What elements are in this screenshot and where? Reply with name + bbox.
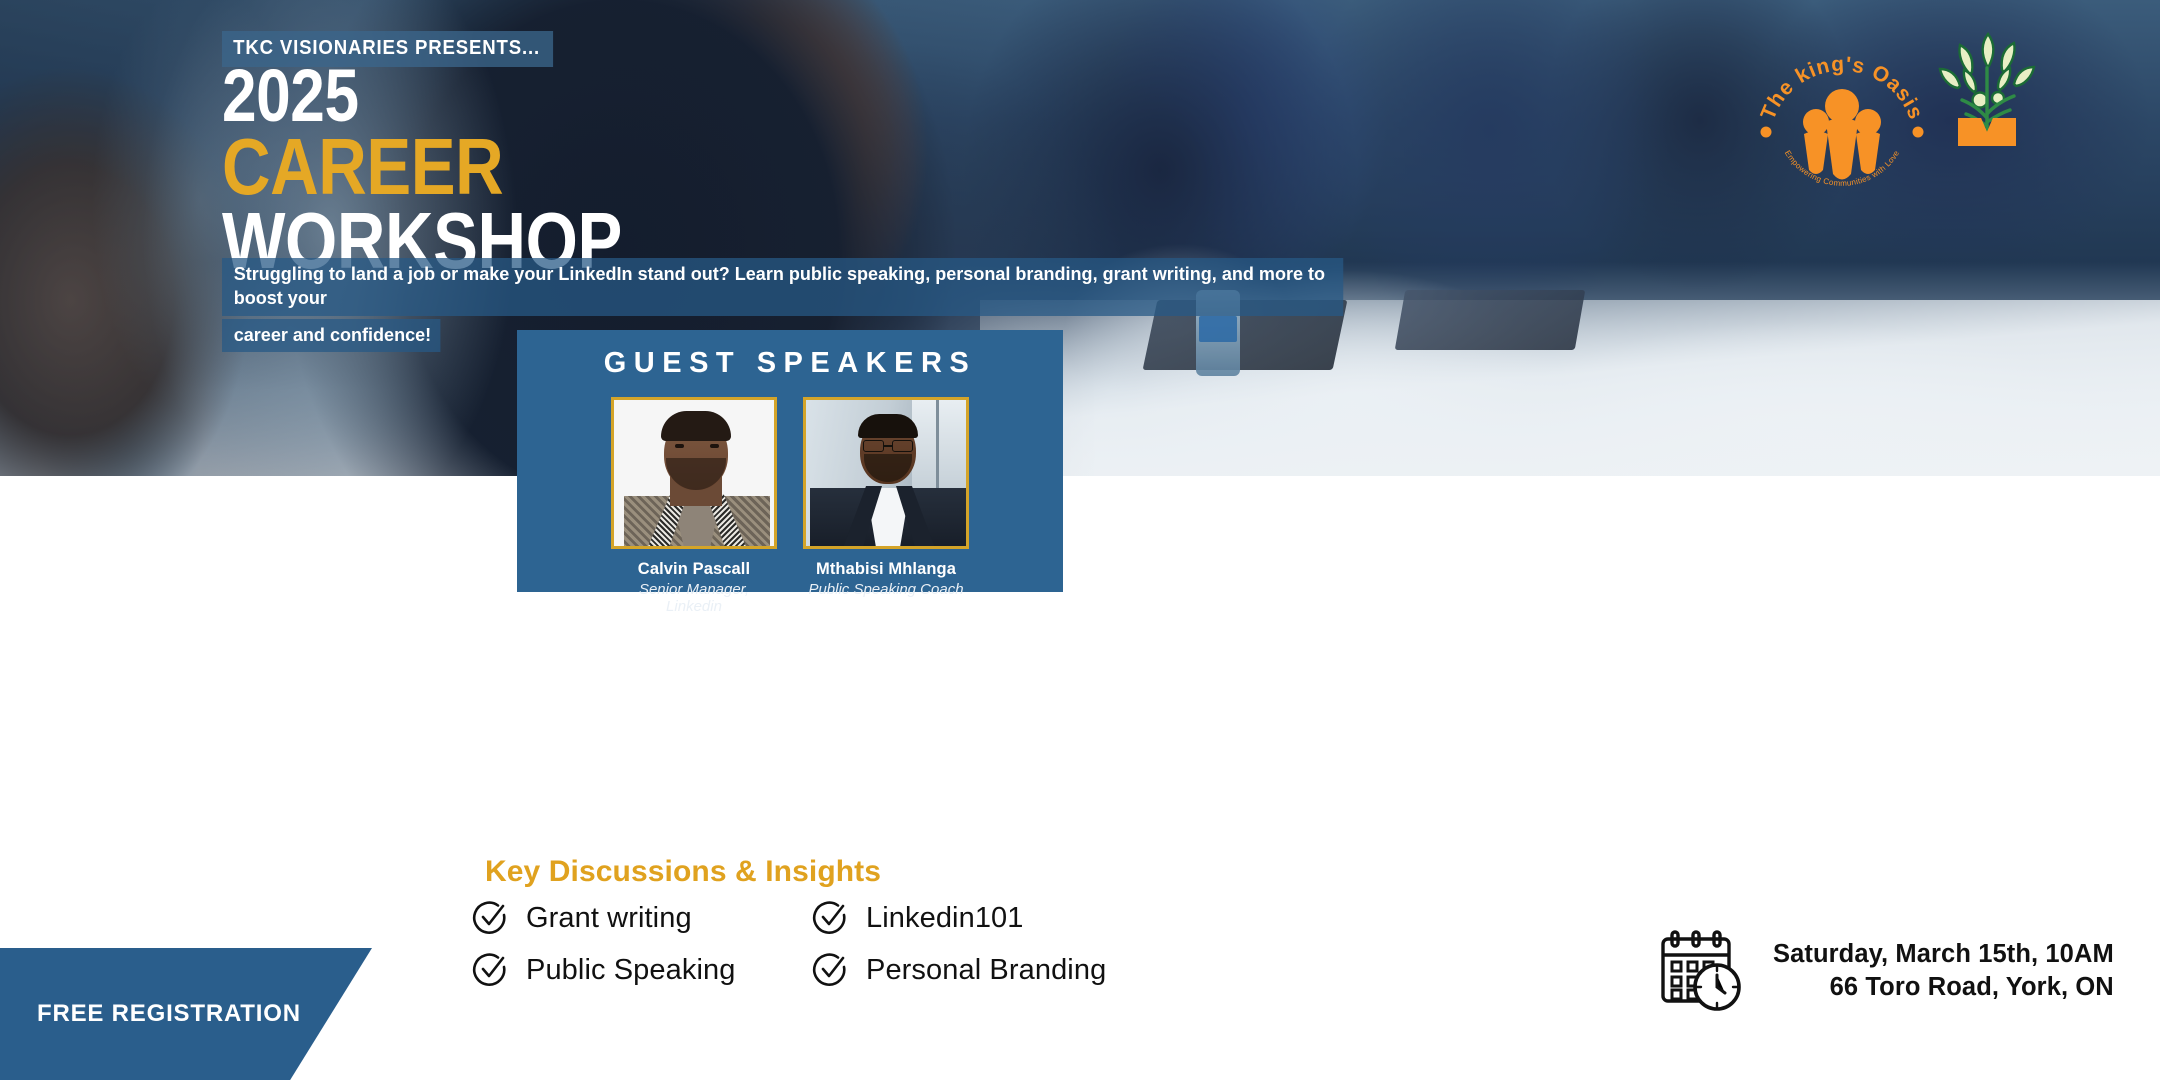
speaker-card: Calvin Pascall Senior Manager, Linkedin bbox=[611, 397, 777, 615]
check-circle-icon bbox=[472, 900, 508, 936]
title-career: CAREER bbox=[222, 130, 622, 204]
event-flyer: TKC VISIONARIES PRESENTS... 2025 CAREER … bbox=[0, 0, 2160, 1080]
speaker-card: Mthabisi Mhlanga Public Speaking Coach bbox=[803, 397, 969, 615]
guest-speakers-heading: GUEST SPEAKERS bbox=[517, 330, 1063, 380]
page-title: 2025 CAREER WORKSHOP bbox=[222, 62, 698, 277]
list-item-label: Grant writing bbox=[526, 902, 692, 935]
subtitle-line-1: Struggling to land a job or make your Li… bbox=[222, 258, 1343, 316]
guest-speakers-panel: GUEST SPEAKERS Calvin Pascall Senior Man… bbox=[517, 330, 1063, 592]
event-date: Saturday, March 15th, 10AM bbox=[1773, 938, 2114, 971]
list-item: Linkedin101 bbox=[812, 900, 1152, 936]
list-item-label: Personal Branding bbox=[866, 954, 1106, 987]
speaker-name: Mthabisi Mhlanga bbox=[803, 560, 969, 579]
speaker-role: Public Speaking Coach bbox=[803, 581, 969, 598]
tree-logo-icon bbox=[1928, 22, 2046, 146]
speaker-name: Calvin Pascall bbox=[611, 560, 777, 579]
kings-oasis-logo: The king's Oasis Empowering Communities … bbox=[1754, 18, 1930, 194]
list-item-label: Linkedin101 bbox=[866, 902, 1024, 935]
check-circle-icon bbox=[812, 952, 848, 988]
list-item: Public Speaking bbox=[472, 952, 812, 988]
list-item: Grant writing bbox=[472, 900, 812, 936]
speaker-role: Senior Manager, Linkedin bbox=[611, 581, 777, 615]
check-circle-icon bbox=[472, 952, 508, 988]
laptop-icon bbox=[1395, 290, 1586, 350]
title-year: 2025 bbox=[222, 62, 622, 130]
key-discussions-heading: Key Discussions & Insights bbox=[485, 855, 881, 889]
speaker-photo-calvin bbox=[611, 397, 777, 549]
check-circle-icon bbox=[812, 900, 848, 936]
list-item-label: Public Speaking bbox=[526, 954, 735, 987]
free-registration-banner[interactable]: FREE REGISTRATION bbox=[0, 948, 372, 1080]
calendar-clock-icon bbox=[1655, 925, 1747, 1017]
event-datetime-block: Saturday, March 15th, 10AM 66 Toro Road,… bbox=[1655, 925, 2114, 1017]
speaker-photo-mthabisi bbox=[803, 397, 969, 549]
speakers-row: Calvin Pascall Senior Manager, Linkedin … bbox=[517, 397, 1063, 615]
three-people-glyph bbox=[1803, 89, 1881, 180]
key-discussions-list: Grant writing Linkedin101 Public Speakin… bbox=[472, 900, 1372, 988]
subtitle-line-2: career and confidence! bbox=[222, 319, 440, 352]
event-address: 66 Toro Road, York, ON bbox=[1773, 971, 2114, 1004]
list-item: Personal Branding bbox=[812, 952, 1152, 988]
free-registration-label: FREE REGISTRATION bbox=[37, 1000, 301, 1028]
